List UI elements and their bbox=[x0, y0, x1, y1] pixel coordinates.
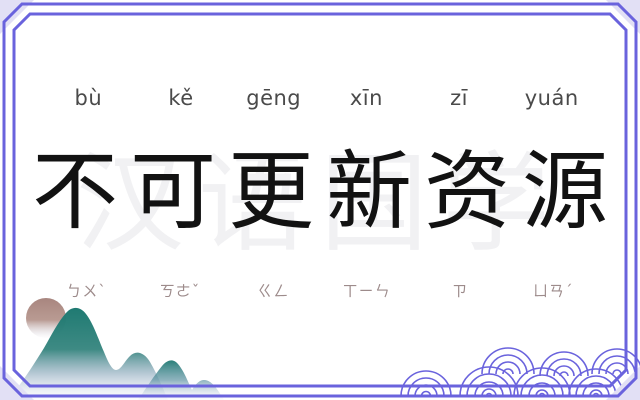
pinyin-cell: yuán bbox=[505, 86, 598, 110]
zhuyin-cell: ㄍㄥ bbox=[227, 280, 320, 301]
corner-tint-bottom-right bbox=[606, 366, 640, 400]
wave-arc bbox=[569, 369, 623, 396]
hanzi-row: 不 可 更 新 资 源 bbox=[26, 128, 614, 256]
wave-arc bbox=[401, 371, 451, 396]
pinyin-cell: gēng bbox=[227, 86, 320, 110]
wave-arc bbox=[460, 367, 518, 396]
zhuyin-cell: ㄩㄢˊ bbox=[507, 280, 600, 301]
mountain-left bbox=[8, 308, 168, 400]
wave-arc bbox=[592, 349, 640, 374]
corner-tint-bottom-left bbox=[0, 366, 34, 400]
hanzi-cell: 资 bbox=[418, 149, 516, 235]
hanzi-cell: 不 bbox=[26, 149, 124, 235]
zhuyin-row: ㄅㄨˋ ㄎㄜˇ ㄍㄥ ㄒㄧㄣ ㄗ ㄩㄢˊ bbox=[26, 270, 614, 310]
entry-content: bù kě gēng xīn zī yuán 不 可 更 新 资 源 ㄅㄨˋ ㄎ… bbox=[26, 76, 614, 310]
pinyin-cell: bù bbox=[42, 86, 135, 110]
hanzi-cell: 源 bbox=[516, 149, 614, 235]
pinyin-cell: zī bbox=[413, 86, 506, 110]
wave-arc bbox=[482, 348, 534, 374]
hanzi-cell: 可 bbox=[124, 149, 222, 235]
zhuyin-cell: ㄒㄧㄣ bbox=[320, 280, 413, 301]
hanzi-cell: 更 bbox=[222, 149, 320, 235]
pinyin-row: bù kě gēng xīn zī yuán bbox=[26, 76, 614, 120]
mountain-right bbox=[138, 360, 224, 400]
zhuyin-cell: ㄎㄜˇ bbox=[133, 280, 226, 301]
word-card: 汉语国学 bù kě gēng xīn zī yuán 不 可 更 新 资 源 … bbox=[0, 0, 640, 400]
wave-pattern bbox=[390, 330, 640, 400]
pinyin-cell: kě bbox=[135, 86, 228, 110]
pinyin-cell: xīn bbox=[320, 86, 413, 110]
corner-tint-top-right bbox=[606, 0, 640, 34]
zhuyin-cell: ㄗ bbox=[413, 280, 506, 301]
corner-tint-top-left bbox=[0, 0, 34, 34]
wave-arc bbox=[540, 352, 588, 376]
wave-arc bbox=[514, 368, 570, 396]
hanzi-cell: 新 bbox=[320, 149, 418, 235]
zhuyin-cell: ㄅㄨˋ bbox=[40, 280, 133, 301]
